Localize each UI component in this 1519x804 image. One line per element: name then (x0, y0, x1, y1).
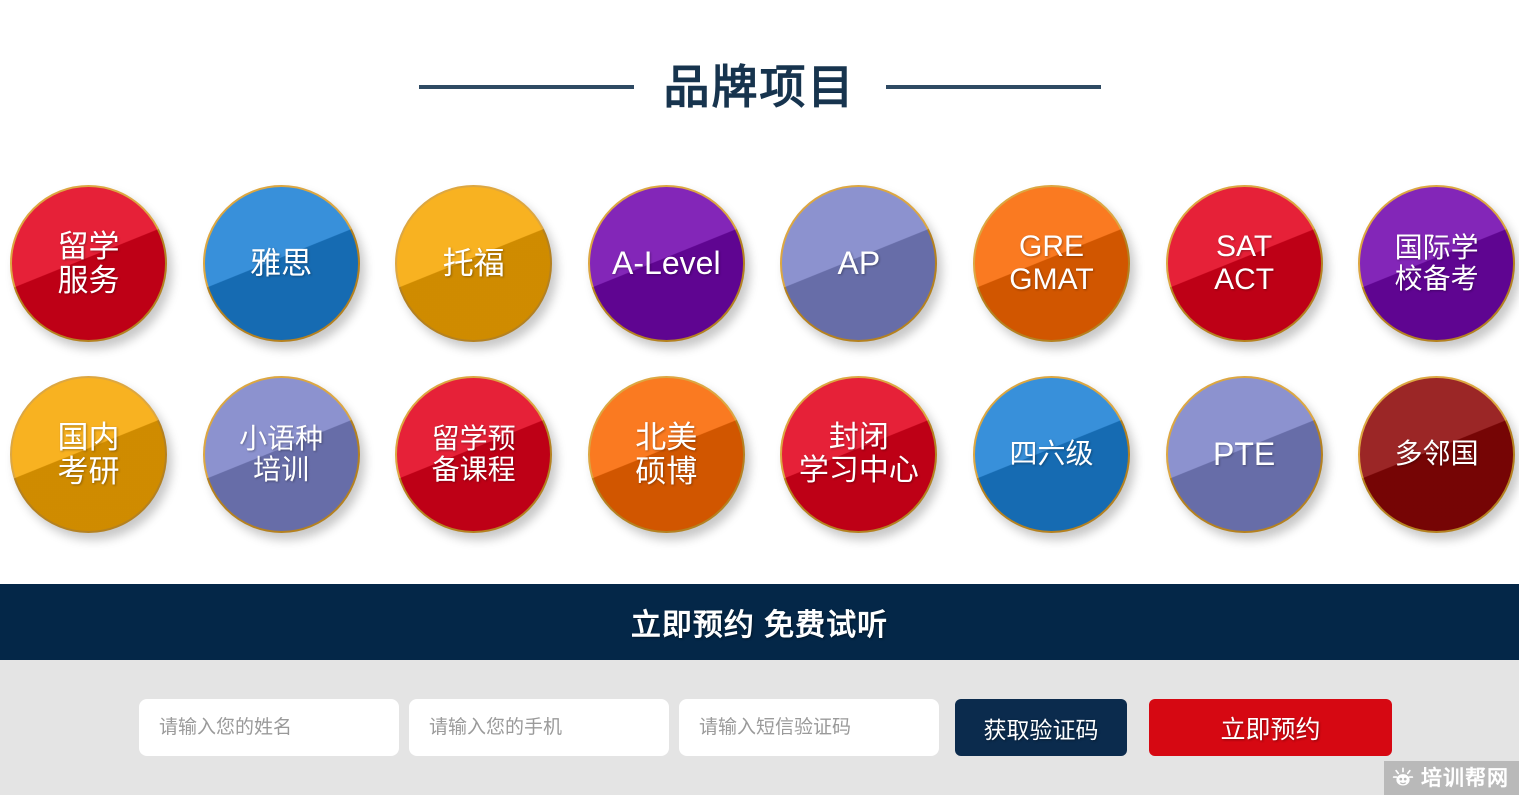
program-bubble-label: 留学预 备课程 (430, 424, 518, 484)
program-bubble-label: SAT ACT (1212, 231, 1276, 296)
program-bubble-ielts[interactable]: 雅思 (203, 185, 360, 342)
program-bubble-toefl[interactable]: 托福 (395, 185, 552, 342)
program-bubble-label: 托福 (441, 247, 507, 280)
program-bubble-label: GRE GMAT (1007, 231, 1095, 296)
heading-rule-left (419, 85, 634, 89)
program-bubble-cet-4-6[interactable]: 四六级 (973, 376, 1130, 533)
program-row-1: 留学 服务雅思托福A-LevelAPGRE GMATSAT ACT国际学 校备考 (10, 185, 1510, 376)
program-bubble-sat-act[interactable]: SAT ACT (1166, 185, 1323, 342)
program-bubble-international-school-prep[interactable]: 国际学 校备考 (1358, 185, 1515, 342)
get-sms-code-button[interactable]: 获取验证码 (955, 699, 1127, 756)
section-heading: 品牌项目 (0, 62, 1519, 113)
program-grid: 留学 服务雅思托福A-LevelAPGRE GMATSAT ACT国际学 校备考… (10, 185, 1510, 567)
program-bubble-minor-language-training[interactable]: 小语种 培训 (203, 376, 360, 533)
watermark-label: 培训帮网 (1421, 768, 1509, 789)
program-bubble-pte[interactable]: PTE (1166, 376, 1323, 533)
program-bubble-study-abroad-service[interactable]: 留学 服务 (10, 185, 167, 342)
program-bubble-label: 北美 硕博 (633, 421, 699, 488)
booking-form-strip: 获取验证码 立即预约 培训帮网 (0, 660, 1519, 795)
program-row-2: 国内 考研小语种 培训留学预 备课程北美 硕博封闭 学习中心四六级PTE多邻国 (10, 376, 1510, 567)
program-bubble-label: PTE (1211, 437, 1277, 472)
submit-booking-button[interactable]: 立即预约 (1149, 699, 1392, 756)
page-title: 品牌项目 (664, 62, 856, 113)
program-bubble-study-abroad-prep-course[interactable]: 留学预 备课程 (395, 376, 552, 533)
program-bubble-label: 留学 服务 (56, 230, 122, 297)
program-bubble-north-america-masters-phd[interactable]: 北美 硕博 (588, 376, 745, 533)
eye-sun-icon (1392, 767, 1414, 789)
program-bubble-label: 国内 考研 (56, 421, 122, 488)
program-bubble-duolingo[interactable]: 多邻国 (1358, 376, 1515, 533)
phone-input[interactable] (409, 699, 669, 756)
program-bubble-label: 小语种 培训 (237, 424, 325, 484)
program-bubble-ap[interactable]: AP (780, 185, 937, 342)
booking-banner-text: 立即预约 免费试听 (631, 600, 888, 644)
program-bubble-label: 四六级 (1007, 439, 1095, 469)
brand-programs-page: 品牌项目 留学 服务雅思托福A-LevelAPGRE GMATSAT ACT国际… (0, 0, 1519, 804)
program-bubble-label: 雅思 (248, 247, 314, 280)
name-input[interactable] (139, 699, 399, 756)
booking-form: 获取验证码 立即预约 (139, 699, 1392, 756)
site-watermark: 培训帮网 (1384, 761, 1519, 795)
sms-code-input[interactable] (679, 699, 939, 756)
program-bubble-domestic-postgrad-exam[interactable]: 国内 考研 (10, 376, 167, 533)
program-bubble-label: 封闭 学习中心 (782, 422, 935, 487)
program-bubble-gre-gmat[interactable]: GRE GMAT (973, 185, 1130, 342)
booking-banner: 立即预约 免费试听 (0, 584, 1519, 660)
program-bubble-label: A-Level (610, 246, 723, 281)
heading-rule-right (886, 85, 1101, 89)
program-bubble-label: 多邻国 (1393, 439, 1481, 469)
program-bubble-label: AP (836, 246, 883, 281)
program-bubble-a-level[interactable]: A-Level (588, 185, 745, 342)
program-bubble-closed-study-center[interactable]: 封闭 学习中心 (780, 376, 937, 533)
program-bubble-label: 国际学 校备考 (1393, 233, 1481, 293)
